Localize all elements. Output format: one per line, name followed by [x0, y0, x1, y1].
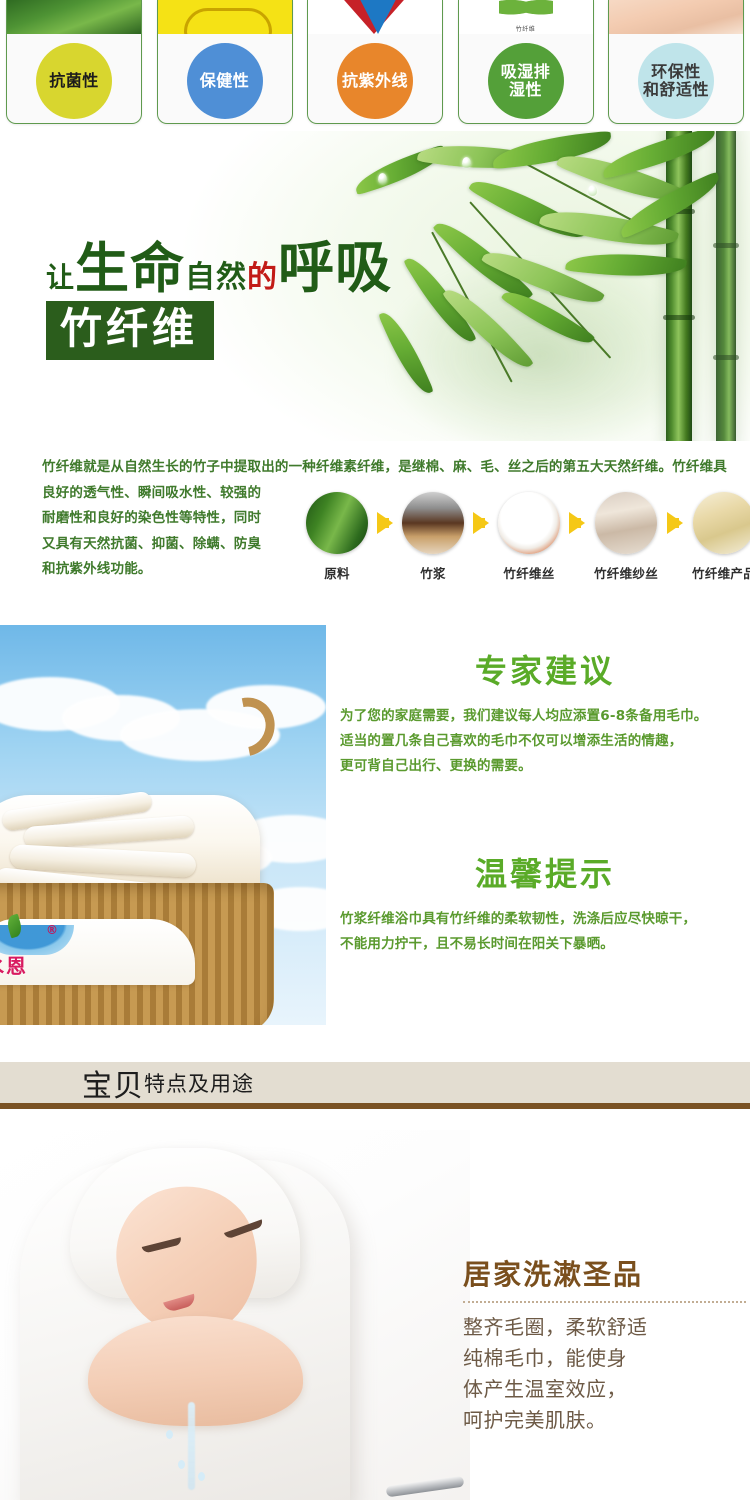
flow-step-raw-material: 原料 [306, 492, 368, 582]
use-line: 纯棉毛巾，能使身 [463, 1343, 750, 1374]
dotted-divider [463, 1301, 746, 1303]
water-stream-decor [188, 1402, 195, 1490]
use-line: 呵护完美肌肤。 [463, 1405, 750, 1436]
expert-advice-title: 专家建议 [340, 652, 750, 690]
badge-circle-uv-resistant: 抗紫外线 [337, 43, 413, 119]
flow-step-label: 竹纤维丝 [503, 563, 554, 582]
flow-step-bamboo-product: 竹纤维产品 [692, 492, 750, 582]
section-title-sub: 特点及用途 [144, 1068, 254, 1098]
headline-part: 呼吸 [278, 236, 392, 301]
badge-circle-eco-comfort: 环保性 和舒适性 [638, 43, 714, 119]
flow-step-bamboo-floss: 竹纤维丝 [498, 492, 560, 582]
description-line: 和抗紫外线功能。 [42, 557, 342, 583]
expert-advice-body: 为了您的家庭需要，我们建议每人均应添置6-8条备用毛巾。 适当的置几条自己喜欢的… [340, 704, 750, 779]
flow-step-label: 竹纤维产品 [692, 563, 750, 582]
bamboo-floss-icon [498, 492, 560, 554]
brand-watermark: ® 水恩 [0, 915, 112, 977]
flow-arrow-icon [658, 492, 692, 554]
water-drop-icon [166, 1430, 173, 1439]
badge-label-line: 抗紫外线 [342, 72, 408, 90]
product-use-text-block: 居家洗漱圣品 整齐毛圈，柔软舒适 纯棉毛巾，能使身 体产生温室效应， 呵护完美肌… [463, 1258, 750, 1436]
flow-step-label: 竹纤维纱丝 [594, 563, 658, 582]
use-line: 体产生温室效应， [463, 1374, 750, 1405]
hero-tag-bamboo-fiber: 竹纤维 [46, 301, 214, 360]
bamboo-yarn-icon [595, 492, 657, 554]
warm-tips-title: 温馨提示 [340, 855, 750, 893]
brand-name: 水恩 [0, 950, 28, 979]
flow-step-label: 竹浆 [420, 563, 446, 582]
bamboo-product-icon [693, 492, 750, 554]
use-line: 整齐毛圈，柔软舒适 [463, 1312, 750, 1343]
warm-tips-section: 温馨提示 竹浆纤维浴巾具有竹纤维的柔软韧性，洗涤后应尽快晾干， 不能用力拧干，且… [340, 855, 750, 957]
badge-label-line: 环保性 [651, 63, 701, 81]
badge-label-line: 保健性 [200, 72, 250, 90]
water-drop-icon [462, 157, 471, 168]
feature-badge-moisture-wicking[interactable]: 竹纤维 吸湿排 湿性 [458, 0, 594, 124]
badge-label-line: 和舒适性 [643, 81, 709, 99]
bamboo-leaf-icon [468, 168, 588, 252]
water-drop-icon [198, 1472, 205, 1481]
section-title-main: 宝贝 [82, 1061, 144, 1105]
bamboo-photo-icon [7, 0, 141, 34]
product-use-body: 整齐毛圈，柔软舒适 纯棉毛巾，能使身 体产生温室效应， 呵护完美肌肤。 [463, 1312, 750, 1436]
headline-part-accent: 的 [247, 260, 278, 295]
feature-badge-uv-resistant[interactable]: 抗紫外线 [307, 0, 443, 124]
tips-line: 不能用力拧干，且不易长时间在阳关下暴晒。 [340, 932, 750, 957]
feature-badge-healthcare[interactable]: 保健性 [157, 0, 293, 124]
badge-circle-moisture-wicking: 吸湿排 湿性 [488, 43, 564, 119]
badge-circle-antibacterial: 抗菌性 [36, 43, 112, 119]
water-drop-icon [178, 1460, 185, 1469]
badge-label-line: 抗菌性 [49, 72, 99, 90]
description-line: 耐磨性和良好的染色性等特性，同时 [42, 506, 342, 532]
thumb-caption: 竹纤维 [459, 24, 593, 33]
description-line: 竹纤维就是从自然生长的竹子中提取出的一种纤维素纤维，是继棉、麻、毛、丝之后的第五… [42, 455, 742, 481]
headline-part: 自然 [185, 260, 247, 295]
tips-line: 竹浆纤维浴巾具有竹纤维的柔软韧性，洗涤后应尽快晾干， [340, 907, 750, 932]
expert-advice-section: 专家建议 为了您的家庭需要，我们建议每人均应添置6-8条备用毛巾。 适当的置几条… [340, 652, 750, 779]
baby-photo-icon [609, 0, 743, 34]
leaf-mark-icon [499, 0, 553, 16]
flow-step-label: 原料 [324, 563, 350, 582]
color-prism-icon [308, 0, 442, 34]
towel-basket-photo: ® 水恩 [0, 625, 326, 1025]
flow-step-bamboo-pulp: 竹浆 [402, 492, 464, 582]
feature-badge-strip: 抗菌性 保健性 抗紫外线 竹纤维 吸湿排 湿性 环保性 和舒适性 [0, 0, 750, 128]
green-leaf-card-icon: 竹纤维 [459, 0, 593, 34]
faucet-decor [386, 1476, 465, 1498]
advice-line: 适当的置几条自己喜欢的毛巾不仅可以增添生活的情趣， [340, 729, 750, 754]
flow-step-bamboo-yarn: 竹纤维纱丝 [594, 492, 658, 582]
yellow-diagram-icon [158, 0, 292, 34]
bamboo-culm-icon [666, 131, 692, 441]
flow-arrow-icon [368, 492, 402, 554]
face-washing-photo [0, 1130, 470, 1500]
feature-badge-eco-comfort[interactable]: 环保性 和舒适性 [608, 0, 744, 124]
bamboo-pulp-icon [402, 492, 464, 554]
description-line: 良好的透气性、瞬间吸水性、较强的 [42, 481, 342, 507]
flow-arrow-icon [464, 492, 498, 554]
water-drop-icon [588, 185, 597, 196]
registered-mark: ® [46, 923, 58, 937]
description-line: 又具有天然抗菌、抑菌、除螨、防臭 [42, 532, 342, 558]
badge-label-line: 吸湿排 [501, 63, 551, 81]
product-use-title: 居家洗漱圣品 [463, 1258, 750, 1292]
bamboo-culm-icon [716, 131, 736, 441]
raw-bamboo-icon [306, 492, 368, 554]
advice-line: 为了您的家庭需要，我们建议每人均应添置6-8条备用毛巾。 [340, 704, 750, 729]
hero-banner: 让生命自然的呼吸 竹纤维 [0, 131, 750, 441]
badge-circle-healthcare: 保健性 [187, 43, 263, 119]
section-header-bar: 宝贝 特点及用途 [0, 1062, 750, 1109]
feature-badge-antibacterial[interactable]: 抗菌性 [6, 0, 142, 124]
production-flow-diagram: 原料 竹浆 竹纤维丝 竹纤维纱丝 竹纤维产品 [306, 492, 750, 612]
bamboo-leaf-icon [599, 131, 719, 179]
advice-line: 更可背自己出行、更换的需要。 [340, 754, 750, 779]
description-block: 竹纤维就是从自然生长的竹子中提取出的一种纤维素纤维，是继棉、麻、毛、丝之后的第五… [0, 448, 750, 620]
warm-tips-body: 竹浆纤维浴巾具有竹纤维的柔软韧性，洗涤后应尽快晾干， 不能用力拧干，且不易长时间… [340, 907, 750, 957]
headline-part: 让 [46, 261, 75, 294]
headline-part: 生命 [75, 237, 185, 300]
flow-arrow-icon [560, 492, 594, 554]
water-drop-icon [378, 173, 387, 184]
hero-headline: 让生命自然的呼吸 [46, 223, 392, 304]
badge-label-line: 湿性 [509, 81, 542, 99]
